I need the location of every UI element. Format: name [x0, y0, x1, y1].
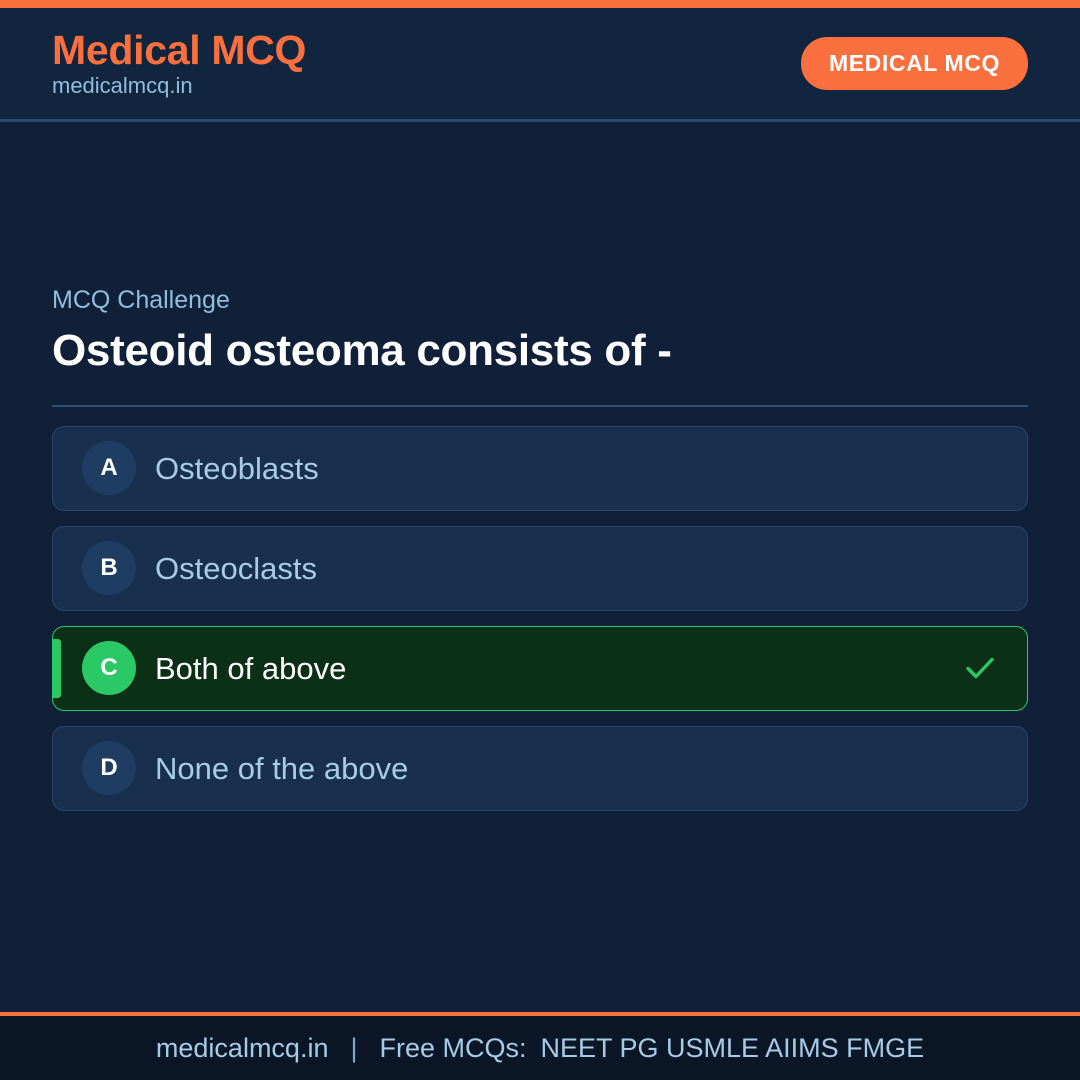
- question-text: Osteoid osteoma consists of -: [52, 325, 1028, 377]
- brand-block: Medical MCQ medicalmcq.in: [52, 29, 306, 98]
- main-content: MCQ Challenge Osteoid osteoma consists o…: [0, 122, 1080, 1012]
- footer-text-row: medicalmcq.in | Free MCQs: NEET PG USMLE…: [156, 1033, 924, 1064]
- option-c[interactable]: C Both of above: [52, 626, 1028, 711]
- footer-separator: |: [328, 1033, 379, 1064]
- option-b-letter: B: [82, 541, 136, 595]
- option-c-label: Both of above: [155, 650, 963, 687]
- option-d[interactable]: D None of the above: [52, 726, 1028, 811]
- option-d-label: None of the above: [155, 750, 997, 787]
- option-a-label: Osteoblasts: [155, 450, 997, 487]
- question-block: MCQ Challenge Osteoid osteoma consists o…: [52, 287, 1028, 810]
- check-icon: [963, 651, 997, 685]
- options-list: A Osteoblasts B Osteoclasts C Both of ab…: [52, 426, 1028, 811]
- footer-label: Free MCQs:: [379, 1033, 526, 1064]
- option-d-letter: D: [82, 741, 136, 795]
- option-a[interactable]: A Osteoblasts: [52, 426, 1028, 511]
- header-badge: MEDICAL MCQ: [801, 37, 1028, 90]
- footer-site-name: medicalmcq.in: [156, 1033, 329, 1064]
- question-divider: [52, 405, 1028, 407]
- option-c-letter: C: [82, 641, 136, 695]
- mcq-card-page: Medical MCQ medicalmcq.in MEDICAL MCQ MC…: [0, 0, 1080, 1080]
- brand-subtitle: medicalmcq.in: [52, 74, 306, 98]
- brand-title: Medical MCQ: [52, 29, 306, 72]
- option-b-label: Osteoclasts: [155, 550, 997, 587]
- correct-accent-bar: [53, 639, 61, 698]
- top-accent-bar: [0, 0, 1080, 8]
- page-header: Medical MCQ medicalmcq.in MEDICAL MCQ: [0, 8, 1080, 122]
- option-a-letter: A: [82, 441, 136, 495]
- option-b[interactable]: B Osteoclasts: [52, 526, 1028, 611]
- eyebrow-label: MCQ Challenge: [52, 287, 1028, 315]
- page-footer: medicalmcq.in | Free MCQs: NEET PG USMLE…: [0, 1012, 1080, 1080]
- footer-exam-list: NEET PG USMLE AIIMS FMGE: [527, 1033, 925, 1064]
